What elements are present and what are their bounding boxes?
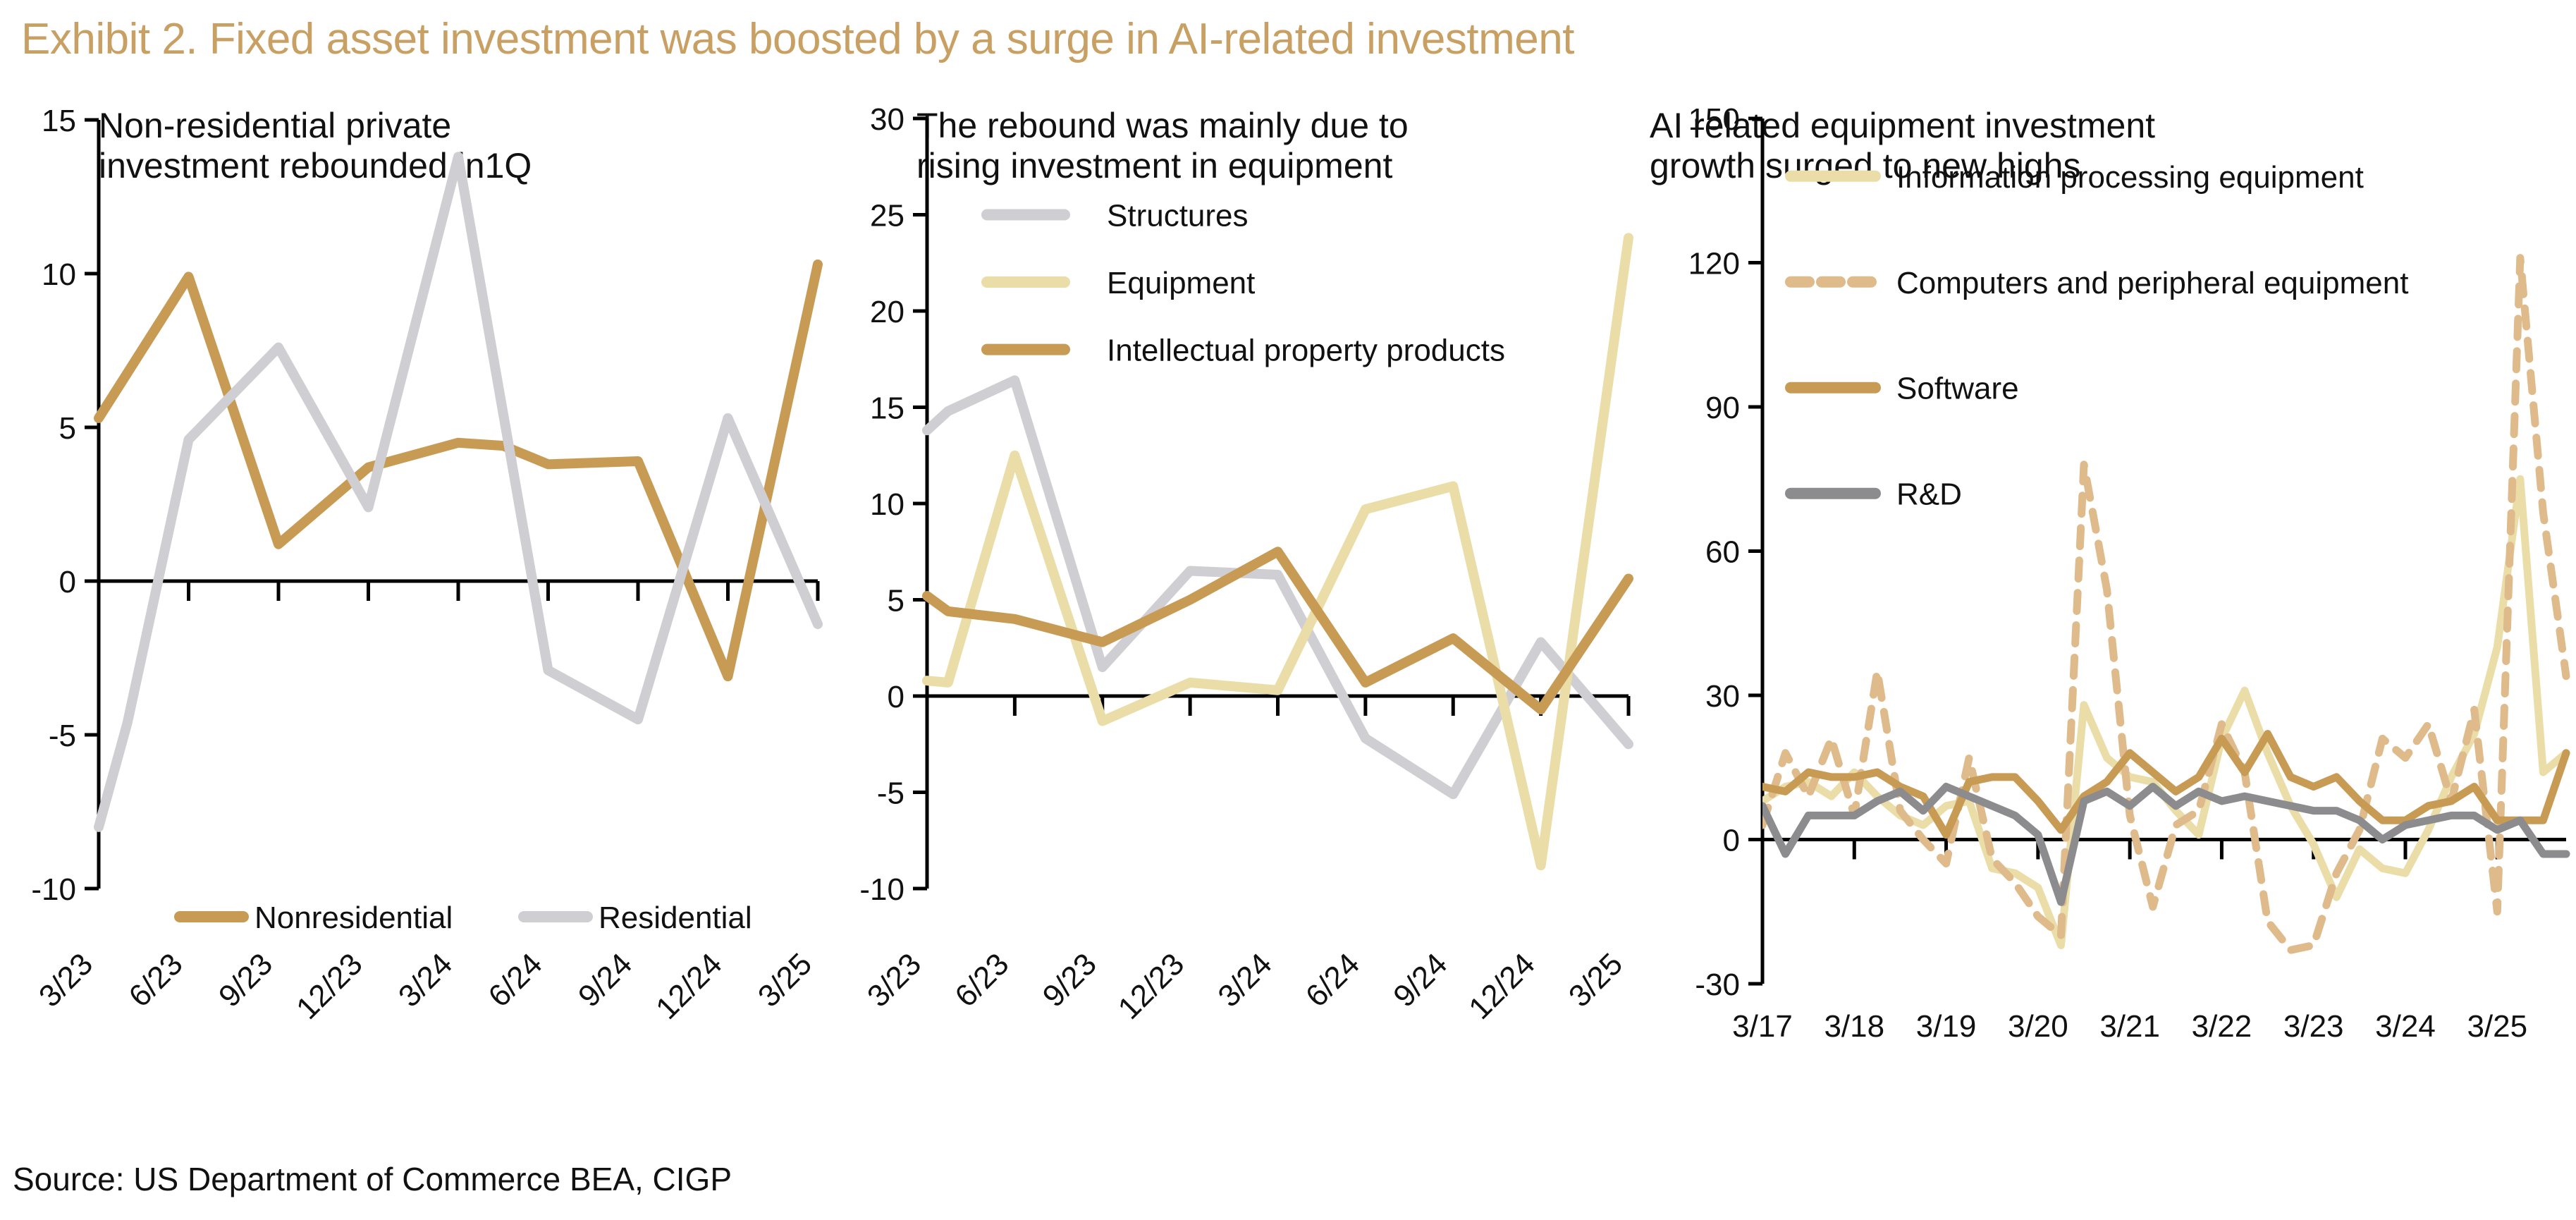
chart-2-x-tick-label-group: 3/24 [1211,946,1278,1013]
chart-1-y-tick-label: -10 [31,872,76,907]
chart-1-y-tick-label: 0 [59,565,76,599]
chart-1-x-tick-label-group: 6/23 [122,946,189,1013]
chart-2-x-tick-label-group: 6/24 [1299,946,1366,1013]
chart-3-y-tick-label: -30 [1695,968,1740,1002]
chart-2-x-tick-label-group: 12/23 [1112,946,1191,1026]
chart-1-x-tick-label: 3/23 [32,946,99,1013]
chart-1-x-tick-label: 3/24 [392,946,459,1013]
chart-1-x-tick-label-group: 12/24 [649,946,729,1026]
chart-2-x-tick-label-group: 3/25 [1562,946,1629,1013]
chart-2-x-tick-label: 9/24 [1387,946,1454,1013]
chart-2-x-tick-label-group: 12/24 [1462,946,1542,1026]
chart-2-plot-area: 302520151050-5-103/236/239/2312/233/246/… [832,106,1643,1142]
chart-2-y-tick-label: 15 [870,391,904,426]
chart-1-x-tick-label: 9/24 [572,946,639,1013]
chart-2-y-tick-label: -10 [859,872,904,907]
chart-2-y-tick-label: 30 [870,102,904,137]
chart-1-y-tick-label: 15 [42,104,76,138]
chart-2-x-tick-label-group: 3/23 [861,946,928,1013]
chart-1-x-tick-label-group: 12/23 [290,946,369,1026]
chart-2-legend-label-0: Structures [1107,199,1249,233]
chart-1-x-tick-label-group: 9/23 [212,946,279,1013]
chart-2-x-tick-label: 3/24 [1211,946,1278,1013]
chart-2-x-tick-label: 6/24 [1299,946,1366,1013]
chart-3-y-tick-label: 60 [1705,535,1740,570]
chart-2-x-tick-label: 9/23 [1036,946,1103,1013]
chart-3-y-tick-label: 90 [1705,391,1740,425]
chart-2-legend-label-1: Equipment [1107,266,1255,300]
chart-3-legend-label-1: Computers and peripheral equipment [1896,266,2408,300]
chart-panel-components: The rebound was mainly due to rising inv… [832,106,1643,1142]
chart-3-x-tick-label: 3/23 [2283,1009,2344,1044]
chart-3-x-tick-label: 3/22 [2192,1009,2252,1044]
chart-2-legend-label-2: Intellectual property products [1107,334,1505,368]
chart-1-legend-label-0: Nonresidential [254,901,453,935]
chart-2-x-tick-label: 3/25 [1562,946,1629,1013]
chart-3-x-tick-label: 3/20 [2008,1009,2068,1044]
chart-panel-ai-equipment: AI related equipment investment growth s… [1643,106,2576,1142]
chart-3-series-group [1762,258,2566,951]
chart-1-x-tick-label: 9/23 [212,946,279,1013]
chart-3-x-tick-label: 3/21 [2099,1009,2160,1044]
chart-2-x-tick-label: 6/23 [948,946,1015,1013]
chart-1-svg: 151050-5-103/236/239/2312/233/246/249/24… [0,106,832,1142]
chart-3-svg: 1501209060300-303/173/183/193/203/213/22… [1643,106,2576,1142]
chart-1-x-tick-label: 6/24 [482,946,548,1013]
chart-3-x-tick-label: 3/18 [1824,1009,1884,1044]
chart-2-x-tick-label-group: 9/24 [1387,946,1454,1013]
chart-1-y-tick-label: -5 [49,719,76,753]
chart-2-y-tick-label: 20 [870,295,904,329]
chart-1-plot-area: 151050-5-103/236/239/2312/233/246/249/24… [0,106,832,1142]
chart-1-y-tick-label: 10 [42,257,76,292]
chart-3-x-tick-label: 3/24 [2375,1009,2436,1044]
chart-3-y-tick-label: 0 [1723,824,1740,858]
chart-1-x-tick-label: 12/24 [649,946,729,1026]
chart-2-svg: 302520151050-5-103/236/239/2312/233/246/… [832,106,1643,1142]
source-note: Source: US Department of Commerce BEA, C… [13,1160,732,1198]
chart-1-x-tick-label-group: 3/23 [32,946,99,1013]
chart-3-plot-area: 1501209060300-303/173/183/193/203/213/22… [1643,106,2576,1142]
chart-2-x-tick-label: 12/24 [1462,946,1542,1026]
chart-1-x-tick-label-group: 3/25 [752,946,818,1013]
chart-2-series-0 [927,380,1629,794]
chart-3-x-tick-label: 3/17 [1732,1009,1793,1044]
chart-3-legend-label-3: R&D [1896,477,1962,512]
page-title: Exhibit 2. Fixed asset investment was bo… [21,14,1574,64]
chart-1-x-tick-label-group: 6/24 [482,946,548,1013]
chart-1-x-tick-label-group: 9/24 [572,946,639,1013]
chart-2-x-tick-label: 3/23 [861,946,928,1013]
chart-1-y-tick-label: 5 [59,411,76,446]
chart-3-y-tick-label: 30 [1705,679,1740,714]
chart-1-x-tick-label: 12/23 [290,946,369,1026]
chart-3-legend-label-2: Software [1896,372,2019,406]
chart-2-y-tick-label: 25 [870,199,904,233]
chart-3-x-tick-label: 3/25 [2467,1009,2527,1044]
chart-2-x-tick-label: 12/23 [1112,946,1191,1026]
chart-1-legend-label-1: Residential [599,901,752,935]
chart-2-y-tick-label: 5 [888,584,904,618]
chart-2-y-tick-label: 10 [870,487,904,522]
chart-1-series-1 [99,157,818,826]
chart-3-x-tick-label: 3/19 [1916,1009,1977,1044]
chart-3-y-tick-label: 150 [1688,102,1740,137]
chart-2-y-tick-label: -5 [877,776,904,811]
chart-1-x-tick-label: 3/25 [752,946,818,1013]
chart-panel-nonresidential: Non-residential private investment rebou… [0,106,832,1142]
chart-2-x-tick-label-group: 9/23 [1036,946,1103,1013]
chart-1-x-tick-label: 6/23 [122,946,189,1013]
chart-3-y-tick-label: 120 [1688,247,1740,281]
chart-3-legend-label-0: Information processing equipment [1896,160,2364,195]
chart-2-y-tick-label: 0 [888,680,904,714]
chart-1-x-tick-label-group: 3/24 [392,946,459,1013]
chart-3-series-1 [1762,258,2566,951]
chart-2-x-tick-label-group: 6/23 [948,946,1015,1013]
exhibit-page: Exhibit 2. Fixed asset investment was bo… [0,0,2576,1220]
